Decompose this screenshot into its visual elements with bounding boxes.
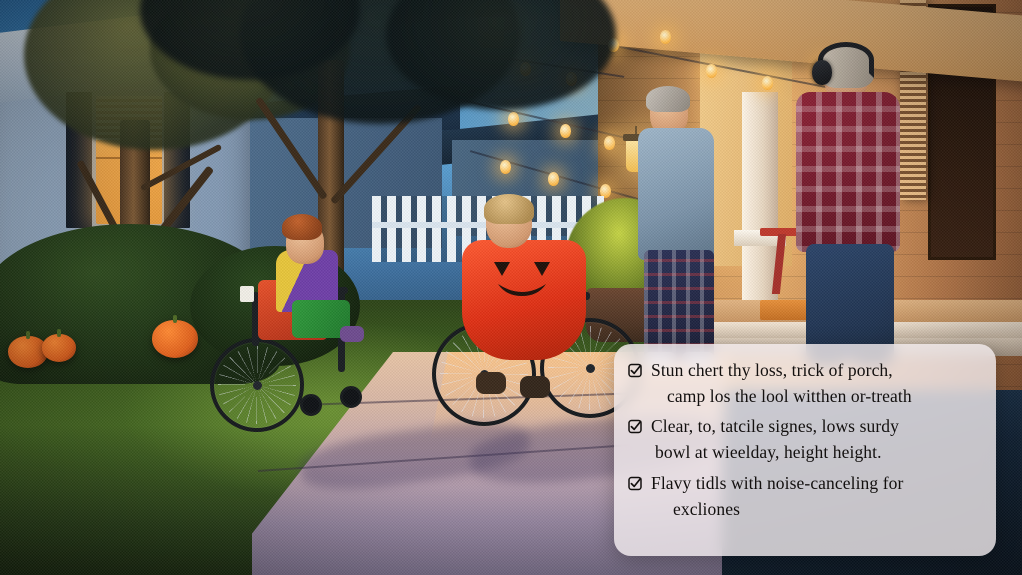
adult-hair — [646, 86, 690, 112]
tip-line-2: excliones — [651, 497, 903, 523]
adult-shirt — [638, 128, 714, 260]
tip-item: Clear, to, tatcile signes, lows surdy bo… — [628, 414, 978, 465]
headphone-cup-icon — [812, 60, 832, 85]
tip-item: Flavy tidls with noise-canceling for exc… — [628, 471, 978, 522]
tip-line-2: bowl at wieelday, height height. — [651, 440, 899, 466]
tip-item: Stun chert thy loss, trick of porch, cam… — [628, 358, 978, 409]
checkbox-checked-icon — [628, 476, 643, 491]
adult-jeans — [806, 244, 894, 360]
tip-line-1: Flavy tidls with noise-canceling for — [651, 473, 903, 493]
wheelchair-wheel — [210, 338, 304, 432]
child-hair — [282, 214, 322, 240]
checkbox-checked-icon — [628, 363, 643, 378]
chair-tag — [240, 286, 254, 302]
tip-line-2: camp los the lool witthen or-treath — [651, 384, 912, 410]
shoe — [520, 376, 550, 398]
adult-flannel — [796, 92, 900, 252]
caption-card: Stun chert thy loss, trick of porch, cam… — [614, 344, 996, 556]
tip-line-1: Clear, to, tatcile signes, lows surdy — [651, 416, 899, 436]
scene-image: Stun chert thy loss, trick of porch, cam… — [0, 0, 1022, 575]
pumpkin — [42, 334, 76, 362]
tip-line-1: Stun chert thy loss, trick of porch, — [651, 360, 893, 380]
jack-o-lantern-face-icon — [486, 256, 558, 300]
porch-column — [742, 92, 778, 304]
shoe — [340, 326, 364, 342]
checkbox-checked-icon — [628, 419, 643, 434]
child-hair — [484, 194, 534, 224]
shoe — [476, 372, 506, 394]
pumpkin — [152, 320, 198, 358]
